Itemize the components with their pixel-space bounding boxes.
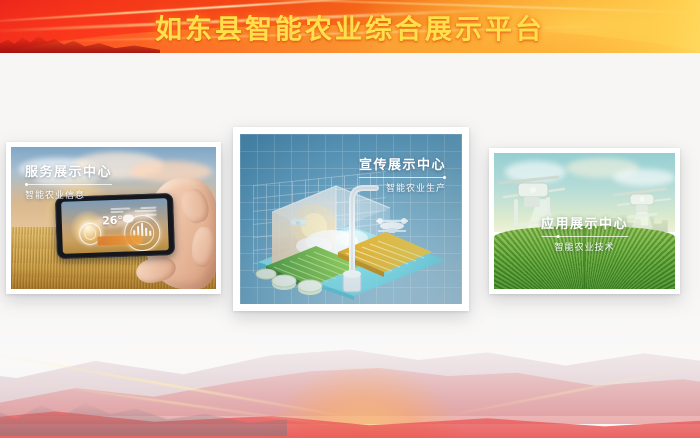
caption-divider xyxy=(541,236,628,237)
light-beam xyxy=(0,352,347,417)
mountain-layer-far xyxy=(0,321,700,416)
light-beam xyxy=(436,363,700,418)
finger xyxy=(177,186,212,226)
page-root: 如东县智能农业综合展示平台 xyxy=(0,0,700,438)
card-promotion-title: 宣传展示中心 xyxy=(359,154,446,173)
header-banner: 如东县智能农业综合展示平台 xyxy=(0,0,700,53)
card-promotion-image: 宣传展示中心 智能农业生产 xyxy=(240,134,462,304)
card-promotion-caption: 宣传展示中心 智能农业生产 xyxy=(359,154,446,194)
card-promotion[interactable]: 宣传展示中心 智能农业生产 xyxy=(233,127,469,311)
sun-glow xyxy=(266,368,462,438)
card-service-title: 服务展示中心 xyxy=(25,161,112,180)
mountain-ridge-left xyxy=(0,392,287,436)
hud-pill xyxy=(97,235,141,246)
card-service-subtitle: 智能农业信息 xyxy=(25,188,112,201)
caption-divider xyxy=(359,177,446,178)
card-service-image: 26° 服务展示中心 智能农业信息 xyxy=(11,147,216,289)
card-service-caption: 服务展示中心 智能农业信息 xyxy=(25,161,112,201)
hud-temperature: 26° xyxy=(102,214,123,228)
card-application-caption: 应用展示中心 智能农业技术 xyxy=(541,213,628,253)
smartphone: 26° xyxy=(55,193,175,259)
card-application-image: 应用展示中心 智能农业技术 xyxy=(494,153,675,289)
card-application-title: 应用展示中心 xyxy=(541,213,628,232)
light-beam xyxy=(15,380,334,427)
mountain-layer-near xyxy=(0,380,700,438)
card-application-subtitle: 智能农业技术 xyxy=(541,240,628,253)
card-service[interactable]: 26° 服务展示中心 智能农业信息 xyxy=(6,142,221,294)
mountain-layer-mid xyxy=(0,344,700,424)
caption-divider xyxy=(25,184,112,185)
finger xyxy=(190,226,216,268)
card-application[interactable]: 应用展示中心 智能农业技术 xyxy=(489,148,680,294)
phone-screen: 26° xyxy=(61,198,169,254)
page-title: 如东县智能农业综合展示平台 xyxy=(0,7,700,46)
hud-ring-inner xyxy=(84,228,96,240)
card-promotion-subtitle: 智能农业生产 xyxy=(359,181,446,194)
